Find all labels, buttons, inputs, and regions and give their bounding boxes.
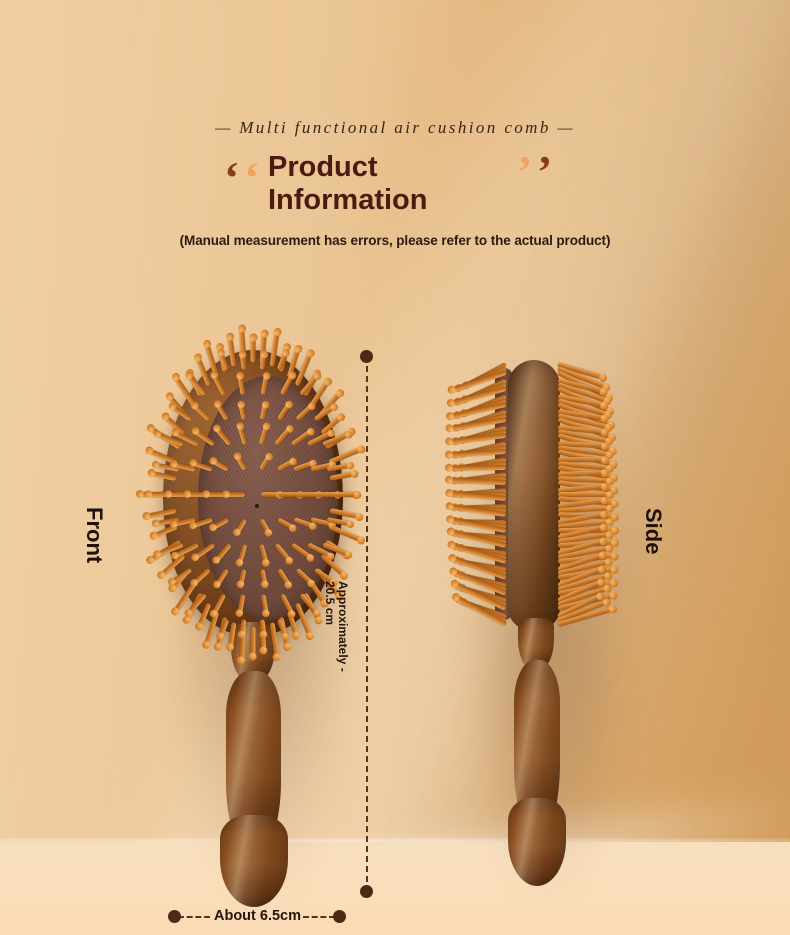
height-guide-dot-bottom bbox=[360, 885, 373, 898]
width-guide-dot-left bbox=[168, 910, 181, 923]
height-measurement-label: Approximately - 20.5 cm bbox=[323, 581, 349, 697]
title-row: ‘ ‘ Product Information ’ ’ bbox=[0, 151, 790, 213]
quote-open-dark-icon: ‘ bbox=[224, 155, 239, 201]
floor-plane bbox=[0, 842, 790, 935]
bristle-pin bbox=[251, 627, 256, 658]
quote-open-light-icon: ‘ bbox=[244, 155, 259, 201]
width-measurement-label: About 6.5cm bbox=[214, 908, 301, 924]
header-block: — Multi functional air cushion comb — ‘ … bbox=[0, 0, 790, 248]
brush-front-handle-base bbox=[220, 815, 288, 907]
quote-close-dark-icon: ’ bbox=[537, 149, 552, 195]
product-info-stage: — Multi functional air cushion comb — ‘ … bbox=[0, 0, 790, 935]
brush-side-head bbox=[508, 360, 560, 630]
width-guide-line-right bbox=[303, 916, 335, 918]
view-label-side: Side bbox=[640, 508, 666, 554]
width-guide-line-left bbox=[178, 916, 210, 918]
brush-side-view bbox=[440, 360, 640, 905]
brush-side-handle-base bbox=[508, 798, 566, 886]
measurement-disclaimer: (Manual measurement has errors, please r… bbox=[0, 233, 790, 248]
bristle-pin bbox=[448, 465, 506, 471]
product-subtitle: — Multi functional air cushion comb — bbox=[0, 118, 790, 138]
bristle-pin bbox=[329, 492, 358, 497]
bristle-pin bbox=[224, 492, 244, 497]
page-title: Product Information bbox=[268, 151, 428, 217]
height-guide-dot-top bbox=[360, 350, 373, 363]
quote-close-light-icon: ’ bbox=[517, 149, 532, 195]
bristle-pin bbox=[251, 337, 256, 363]
air-vent-hole-icon bbox=[255, 504, 259, 508]
height-guide-line bbox=[366, 356, 368, 892]
view-label-front: Front bbox=[81, 507, 107, 563]
width-guide-dot-right bbox=[333, 910, 346, 923]
